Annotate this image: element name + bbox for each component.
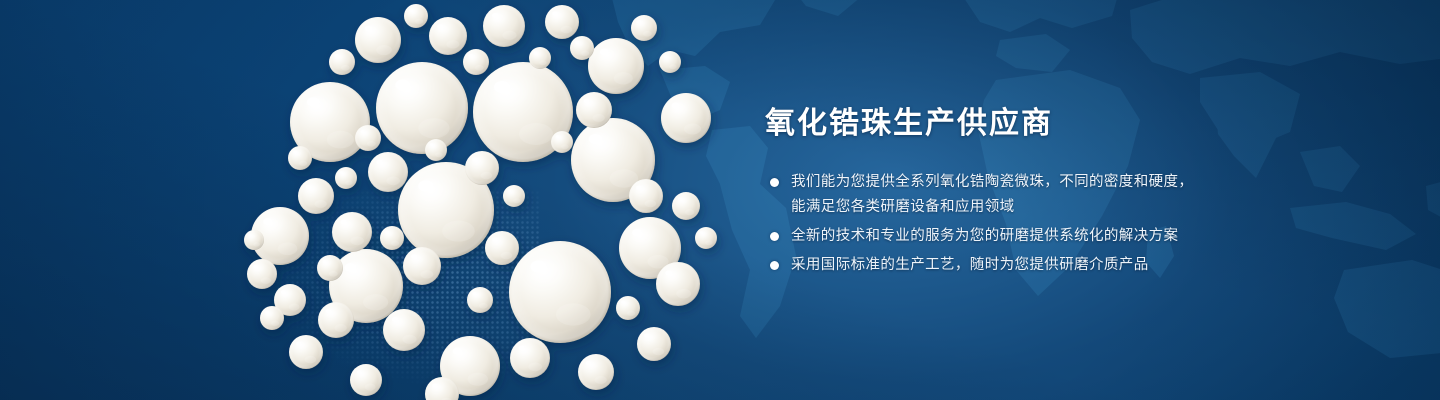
- bullet-dot-icon: [770, 261, 779, 270]
- bullet-dot-icon: [770, 232, 779, 241]
- zirconia-bead-cluster-photo: [130, 0, 710, 400]
- feature-list: 我们能为您提供全系列氧化锆陶瓷微珠，不同的密度和硬度， 能满足您各类研磨设备和应…: [765, 170, 1365, 278]
- list-item: 我们能为您提供全系列氧化锆陶瓷微珠，不同的密度和硬度， 能满足您各类研磨设备和应…: [765, 170, 1365, 220]
- list-item-line: 我们能为您提供全系列氧化锆陶瓷微珠，不同的密度和硬度，: [791, 170, 1365, 195]
- page-title: 氧化锆珠生产供应商: [765, 104, 1365, 144]
- list-item-line: 能满足您各类研磨设备和应用领域: [791, 195, 1365, 220]
- list-item-line: 全新的技术和专业的服务为您的研磨提供系统化的解决方案: [791, 224, 1365, 249]
- bullet-dot-icon: [770, 178, 779, 187]
- list-item-line: 采用国际标准的生产工艺，随时为您提供研磨介质产品: [791, 253, 1365, 278]
- banner-copy: 氧化锆珠生产供应商 我们能为您提供全系列氧化锆陶瓷微珠，不同的密度和硬度， 能满…: [765, 104, 1365, 278]
- hero-banner: 氧化锆珠生产供应商 我们能为您提供全系列氧化锆陶瓷微珠，不同的密度和硬度， 能满…: [0, 0, 1440, 400]
- list-item: 采用国际标准的生产工艺，随时为您提供研磨介质产品: [765, 253, 1365, 278]
- list-item: 全新的技术和专业的服务为您的研磨提供系统化的解决方案: [765, 224, 1365, 249]
